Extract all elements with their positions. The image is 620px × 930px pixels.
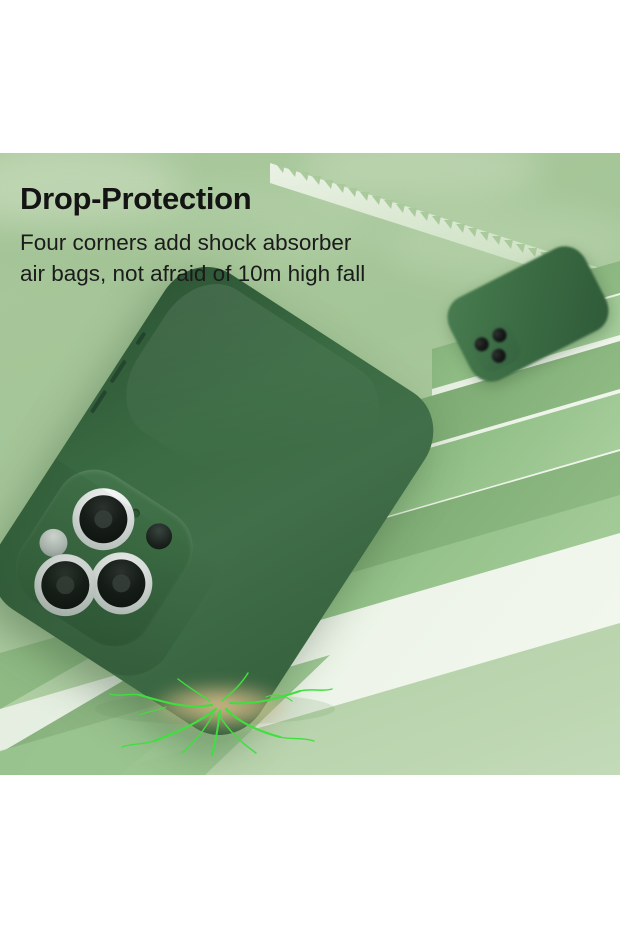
letterbox-top (0, 0, 620, 153)
subtitle-line-1: Four corners add shock absorber (20, 230, 351, 256)
letterbox-bottom (0, 775, 620, 930)
subtitle-line-2: air bags, not afraid of 10m high fall (20, 261, 365, 287)
product-image-card: Drop-Protection Four corners add shock a… (0, 0, 620, 930)
page-title: Drop-Protection (20, 181, 251, 217)
impact-cracks (70, 661, 370, 761)
